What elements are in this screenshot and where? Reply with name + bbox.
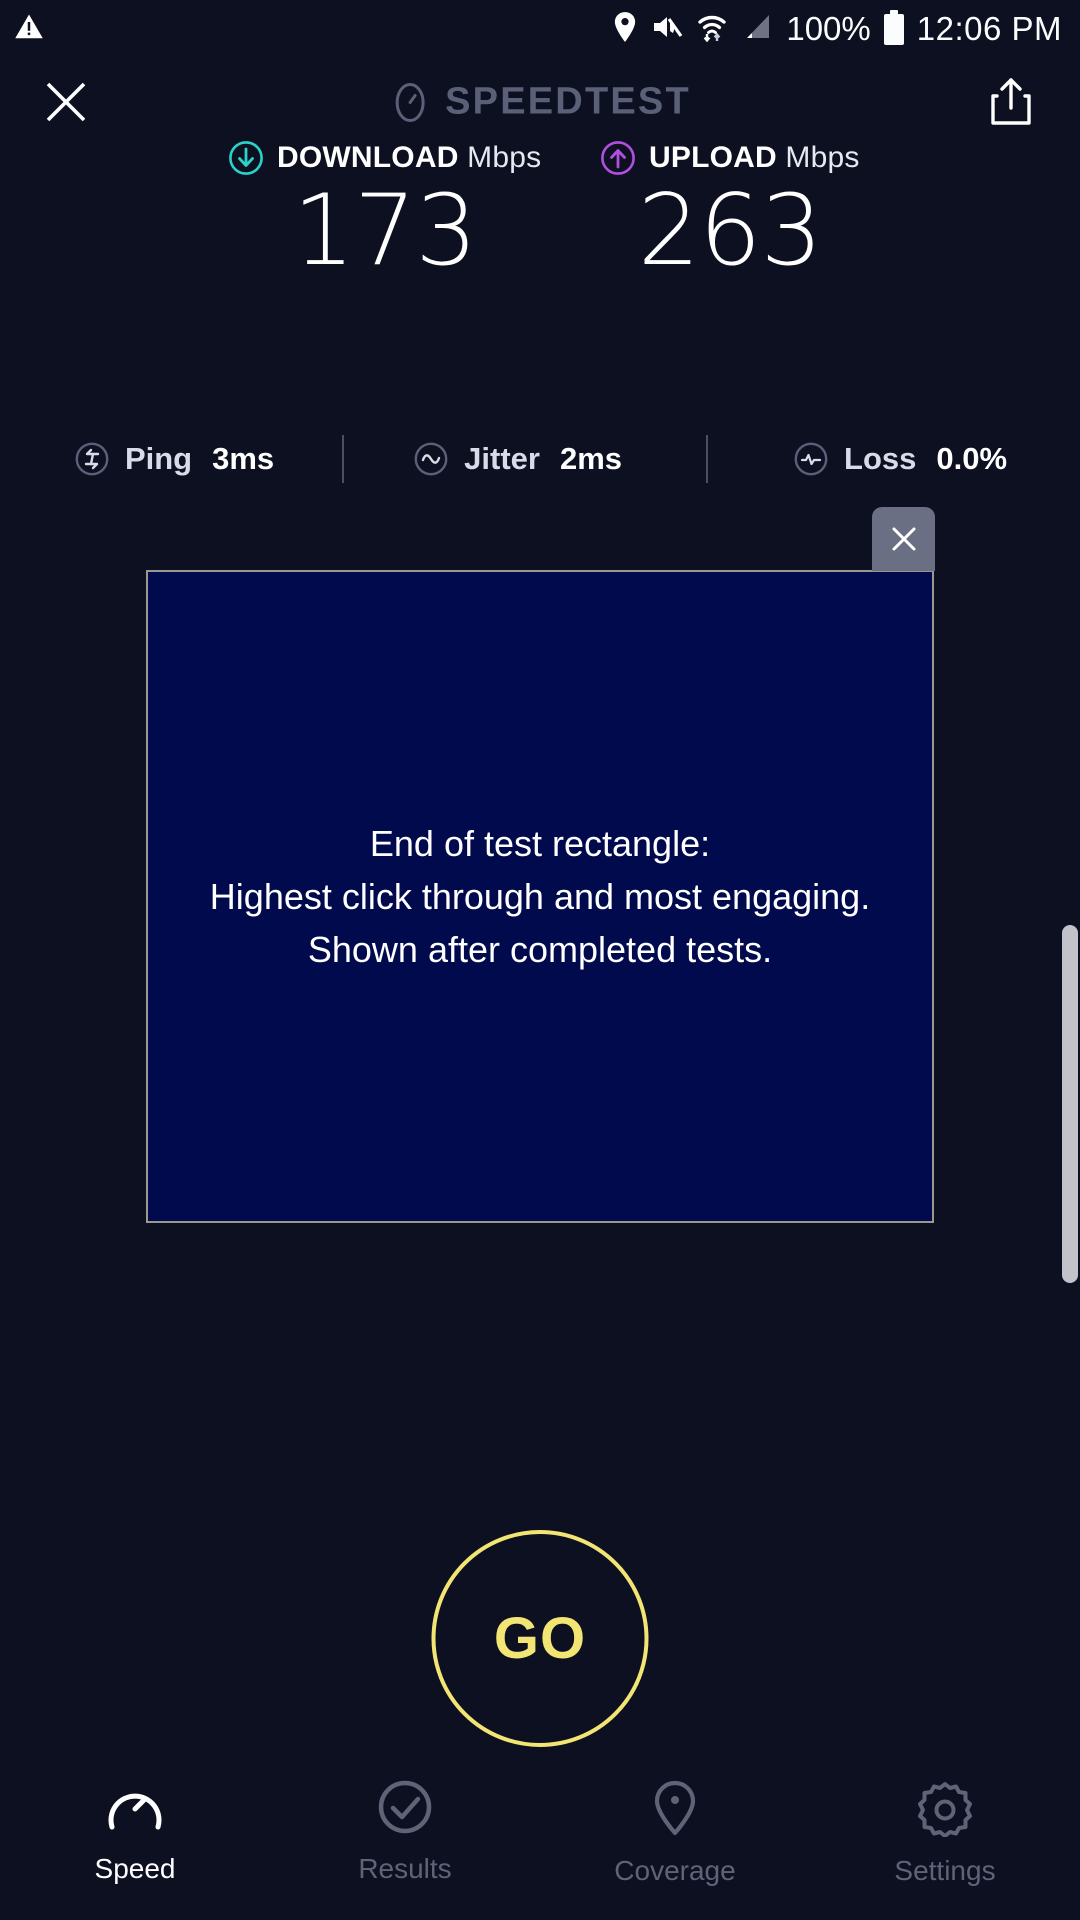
loss-label: Loss (844, 441, 916, 477)
nav-label-settings: Settings (894, 1855, 995, 1887)
share-icon (989, 77, 1033, 127)
mute-icon (651, 12, 683, 47)
loss-metric: Loss 0.0% (792, 440, 1007, 478)
nav-label-speed: Speed (95, 1853, 176, 1885)
upload-metric: UPLOAD Mbps 263 (600, 140, 860, 280)
go-button-label: GO (494, 1605, 586, 1672)
nav-label-results: Results (358, 1853, 451, 1885)
nav-item-coverage[interactable]: Coverage (540, 1779, 810, 1887)
download-value: 173 (228, 182, 541, 280)
jitter-value: 2ms (560, 441, 622, 477)
cellular-signal-icon (741, 12, 773, 47)
check-circle-icon (374, 1779, 436, 1835)
ad-banner[interactable]: End of test rectangle: Highest click thr… (146, 570, 934, 1223)
battery-full-icon (884, 14, 904, 45)
ad-text-line-1: End of test rectangle: (210, 817, 870, 870)
app-header: SPEEDTEST (0, 58, 1080, 146)
nav-item-speed[interactable]: Speed (0, 1779, 270, 1885)
download-metric-header: DOWNLOAD Mbps (228, 140, 541, 176)
map-pin-icon (644, 1779, 706, 1837)
ping-label: Ping (125, 441, 192, 477)
close-icon (43, 79, 89, 125)
nav-item-results[interactable]: Results (270, 1779, 540, 1885)
speedometer-icon (104, 1779, 166, 1835)
ad-close-button[interactable] (872, 507, 935, 571)
jitter-icon (412, 440, 450, 478)
app-logo: SPEEDTEST (389, 81, 691, 124)
close-button[interactable] (38, 74, 94, 130)
wifi-icon (696, 11, 728, 48)
ping-value: 3ms (212, 441, 274, 477)
clock-label: 12:06 PM (917, 10, 1062, 48)
ad-text-line-2: Highest click through and most engaging. (210, 870, 870, 923)
ping-icon (73, 440, 111, 478)
upload-metric-header: UPLOAD Mbps (600, 140, 860, 176)
ping-metric: Ping 3ms (73, 440, 274, 478)
status-bar: 100% 12:06 PM (0, 0, 1080, 58)
download-metric-label: DOWNLOAD Mbps (277, 141, 541, 175)
speedometer-icon (389, 81, 431, 123)
download-arrow-icon (228, 140, 264, 176)
share-button[interactable] (984, 74, 1038, 130)
latency-metrics-row: Ping 3ms Jitter 2ms (0, 435, 1080, 483)
upload-metric-label: UPLOAD Mbps (649, 141, 860, 175)
gear-icon (914, 1779, 976, 1837)
results-panel: DOWNLOAD Mbps 173 UPLOAD Mbps 263 (0, 140, 1080, 290)
status-bar-left (14, 12, 44, 47)
app-title: SPEEDTEST (445, 81, 691, 124)
go-button[interactable]: GO (432, 1530, 649, 1747)
jitter-metric: Jitter 2ms (412, 440, 622, 478)
loss-value: 0.0% (936, 441, 1007, 477)
upload-value: 263 (600, 182, 860, 280)
divider (706, 435, 708, 483)
nav-label-coverage: Coverage (614, 1855, 735, 1887)
advertisement: End of test rectangle: Highest click thr… (146, 570, 934, 1223)
divider (342, 435, 344, 483)
speedtest-app-screen: 100% 12:06 PM SPEEDTEST (0, 0, 1080, 1920)
location-pin-icon (612, 11, 638, 48)
ad-text-line-3: Shown after completed tests. (210, 923, 870, 976)
status-bar-right: 100% 12:06 PM (612, 10, 1062, 48)
nav-item-settings[interactable]: Settings (810, 1779, 1080, 1887)
warning-triangle-icon (14, 12, 44, 47)
speed-metrics-row: DOWNLOAD Mbps 173 UPLOAD Mbps 263 (0, 140, 1080, 290)
scrollbar[interactable] (1062, 925, 1078, 1283)
download-metric: DOWNLOAD Mbps 173 (228, 140, 541, 280)
bottom-navigation: Speed Results Coverage Settings (0, 1765, 1080, 1920)
ad-text: End of test rectangle: Highest click thr… (210, 817, 870, 977)
jitter-label: Jitter (464, 441, 540, 477)
close-icon (887, 522, 921, 556)
loss-icon (792, 440, 830, 478)
upload-arrow-icon (600, 140, 636, 176)
battery-percent-label: 100% (786, 10, 870, 48)
